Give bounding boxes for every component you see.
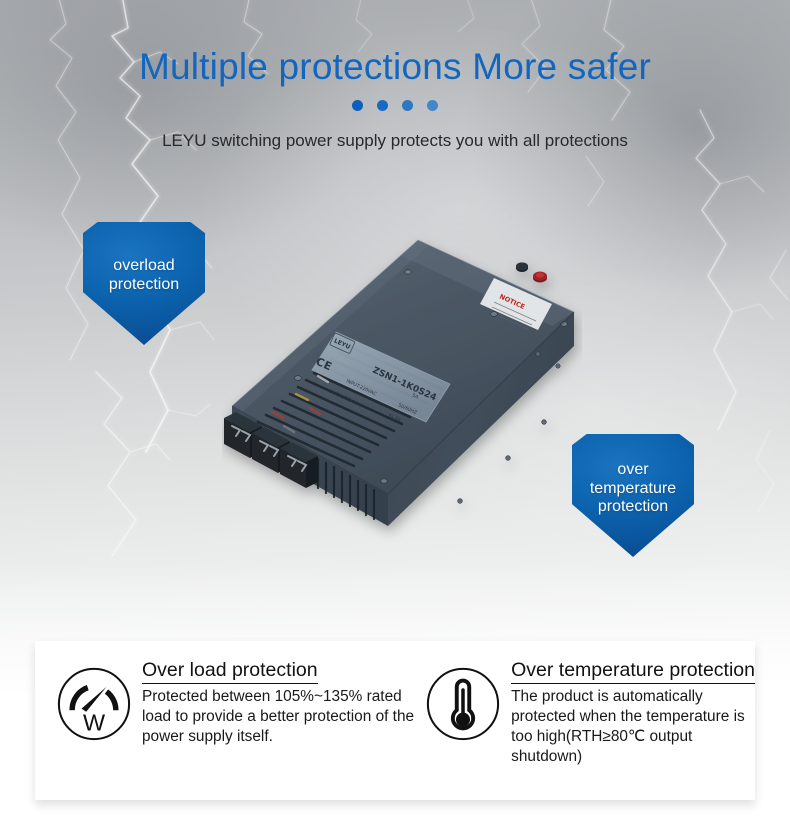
dot-3	[402, 100, 413, 111]
gauge-letter: W	[83, 710, 105, 736]
info-card-over-load-text: Over load protection Protected between 1…	[142, 659, 424, 747]
dot-4	[427, 100, 438, 111]
page-subtitle: LEYU switching power supply protects you…	[0, 131, 790, 151]
info-card-over-load-title: Over load protection	[142, 659, 318, 684]
shield-overload-line1: overload	[109, 257, 179, 276]
dot-1	[352, 100, 363, 111]
page-title: Multiple protections More safer	[0, 46, 790, 88]
info-card-over-temperature-title: Over temperature protection	[511, 659, 755, 684]
decorative-dots	[0, 100, 790, 111]
shield-overtemp-line2: temperature	[590, 480, 676, 499]
info-card-over-temperature: Over temperature protection The product …	[424, 641, 755, 800]
shield-overload-label: overload protection	[109, 257, 179, 311]
promo-banner: Multiple protections More safer LEYU swi…	[0, 0, 790, 834]
shield-overload-line2: protection	[109, 276, 179, 295]
shield-overtemp-line1: over	[590, 461, 676, 480]
protection-info-panel: W Over load protection Protected between…	[35, 641, 755, 800]
thermometer-icon	[424, 665, 502, 743]
power-supply-product-image: ZSN1-1K0S24 INPUT:220VAC 5A 50/60HZ OUTP…	[222, 226, 582, 566]
shield-overtemp-label: over temperature protection	[590, 461, 676, 531]
dot-2	[377, 100, 388, 111]
info-card-over-load-body: Protected between 105%~135% rated load t…	[142, 687, 424, 747]
info-card-over-temperature-text: Over temperature protection The product …	[511, 659, 755, 767]
wattmeter-gauge-icon: W	[55, 665, 133, 743]
info-card-over-load: W Over load protection Protected between…	[35, 641, 424, 800]
info-card-over-temperature-body: The product is automatically protected w…	[511, 687, 755, 767]
shield-overtemp-line3: protection	[590, 498, 676, 517]
